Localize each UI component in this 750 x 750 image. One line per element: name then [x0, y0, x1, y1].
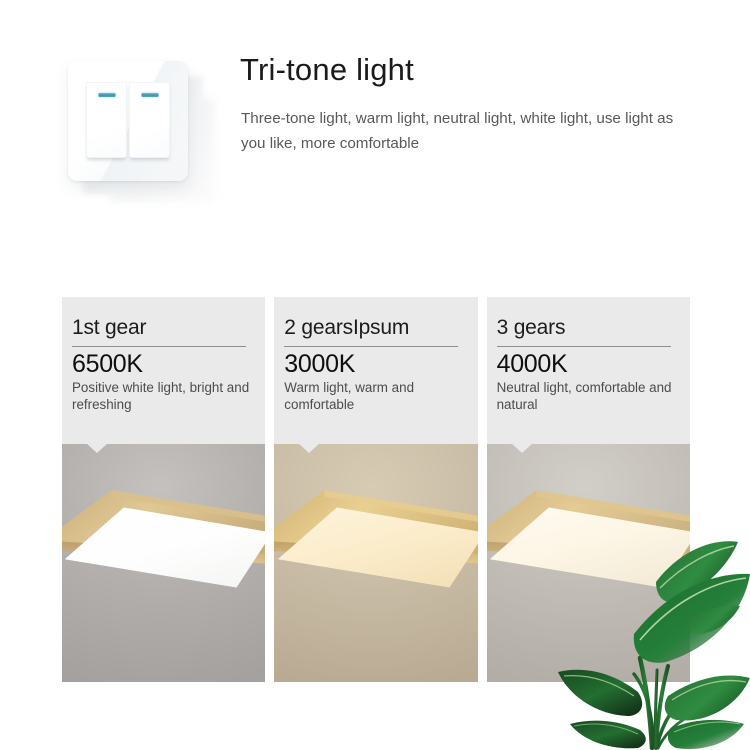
- panel-1-notch: [86, 443, 108, 453]
- product-feature-image: Tri-tone light Three-tone light, warm li…: [0, 0, 750, 750]
- panel-1-description: Positive white light, bright and refresh…: [72, 379, 255, 413]
- panel-1-header: 1st gear 6500K Positive white light, bri…: [62, 297, 265, 444]
- panel-2-notch: [298, 443, 320, 453]
- panel-1-gear-label: 1st gear: [72, 315, 255, 340]
- wall-switch-icon: [58, 52, 218, 197]
- panel-2-description: Warm light, warm and comfortable: [284, 379, 467, 413]
- switch-rocker-left[interactable]: [86, 82, 127, 158]
- panel-2-kelvin-value: 3000K: [284, 350, 467, 378]
- panel-2-gear-label: 2 gearsIpsum: [284, 315, 467, 340]
- panel-1-lamp: [62, 484, 265, 617]
- panel-3-notch: [511, 443, 533, 453]
- switch-rocker-right[interactable]: [129, 82, 170, 158]
- panel-1-photo: [62, 444, 265, 682]
- panel-3-header: 3 gears 4000K Neutral light, comfortable…: [487, 297, 690, 444]
- temperature-panel-1: 1st gear 6500K Positive white light, bri…: [62, 297, 265, 682]
- temperature-panel-2: 2 gearsIpsum 3000K Warm light, warm and …: [274, 297, 477, 682]
- panel-1-kelvin-value: 6500K: [72, 350, 255, 378]
- panel-3-lamp: [487, 484, 690, 617]
- switch-led-indicator-right: [141, 93, 158, 97]
- panel-3-divider: [497, 346, 671, 347]
- panel-3-description: Neutral light, comfortable and natural: [497, 379, 680, 413]
- panel-1-divider: [72, 346, 246, 347]
- switch-faceplate: [68, 61, 188, 181]
- page-title: Tri-tone light: [240, 50, 414, 90]
- panel-2-divider: [284, 346, 458, 347]
- panel-2-photo: [274, 444, 477, 682]
- panel-3-photo: [487, 444, 690, 682]
- panel-3-kelvin-value: 4000K: [497, 350, 680, 378]
- temperature-panel-3: 3 gears 4000K Neutral light, comfortable…: [487, 297, 690, 682]
- panel-2-header: 2 gearsIpsum 3000K Warm light, warm and …: [274, 297, 477, 444]
- panel-2-lamp: [274, 484, 477, 617]
- panel-3-gear-label: 3 gears: [497, 315, 680, 340]
- page-subtitle: Three-tone light, warm light, neutral li…: [241, 106, 681, 156]
- switch-led-indicator-left: [98, 93, 115, 97]
- color-temperature-panels: 1st gear 6500K Positive white light, bri…: [62, 297, 690, 682]
